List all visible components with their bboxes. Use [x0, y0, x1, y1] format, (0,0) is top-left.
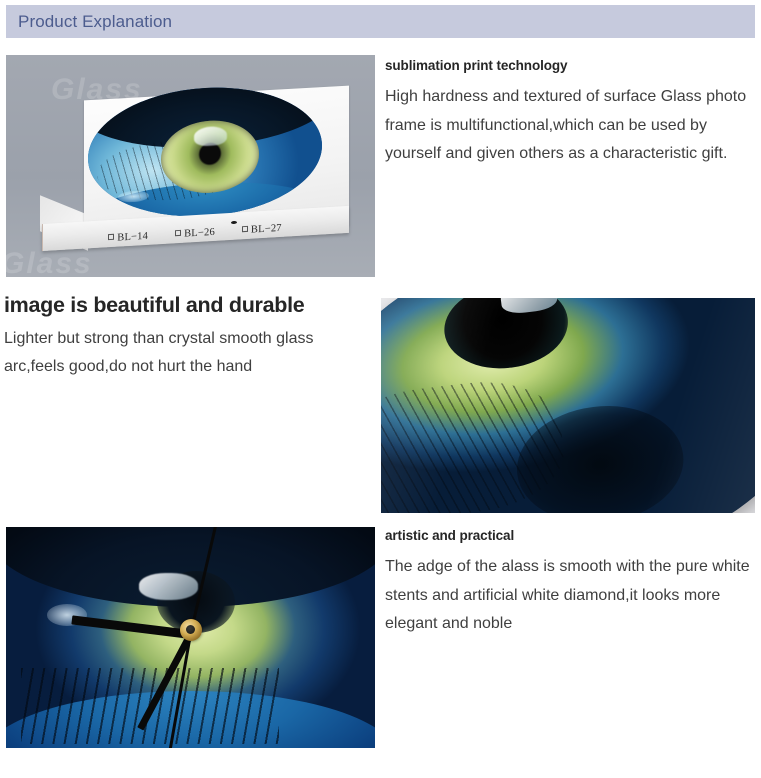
sku-code: BL−26 — [184, 226, 215, 239]
block-heading: image is beautiful and durable — [4, 293, 369, 318]
sku-label: BL−14 — [108, 230, 148, 243]
block-body: The adge of the alass is smooth with the… — [385, 553, 753, 638]
clock-center-hub — [180, 619, 202, 641]
text-block-sublimation: sublimation print technology High hardne… — [385, 58, 750, 169]
sku-code: BL−27 — [251, 222, 282, 235]
eye-highlight — [139, 573, 198, 600]
eye-print-disc — [88, 81, 322, 222]
checkbox-icon — [242, 225, 248, 231]
photo-background — [381, 298, 755, 513]
block-heading: artistic and practical — [385, 528, 753, 544]
block-body: High hardness and textured of surface Gl… — [385, 83, 750, 168]
glass-disc — [381, 298, 755, 513]
clock-face-artwork — [6, 527, 375, 748]
checkbox-icon — [175, 229, 181, 235]
checkbox-icon — [108, 233, 114, 239]
text-block-artistic: artistic and practical The adge of the a… — [385, 528, 753, 639]
sku-label: BL−27 — [242, 222, 282, 235]
sku-code: BL−14 — [117, 230, 148, 243]
product-image-closeup[interactable] — [381, 298, 755, 513]
product-image-wall-clock[interactable] — [6, 527, 375, 748]
block-heading: sublimation print technology — [385, 58, 750, 74]
section-header: Product Explanation — [6, 5, 755, 38]
gloss-sheen — [381, 298, 755, 513]
text-block-durable: image is beautiful and durable Lighter b… — [4, 293, 369, 382]
page-title: Product Explanation — [18, 13, 172, 30]
product-image-boxed-frame[interactable]: Glass Glass Glass BL−14 BL−26 — [6, 55, 375, 277]
eye-artwork — [88, 81, 322, 222]
sku-label: BL−26 — [175, 226, 215, 239]
photo-background: Glass Glass Glass BL−14 BL−26 — [6, 55, 375, 277]
block-body: Lighter but strong than crystal smooth g… — [4, 325, 369, 382]
